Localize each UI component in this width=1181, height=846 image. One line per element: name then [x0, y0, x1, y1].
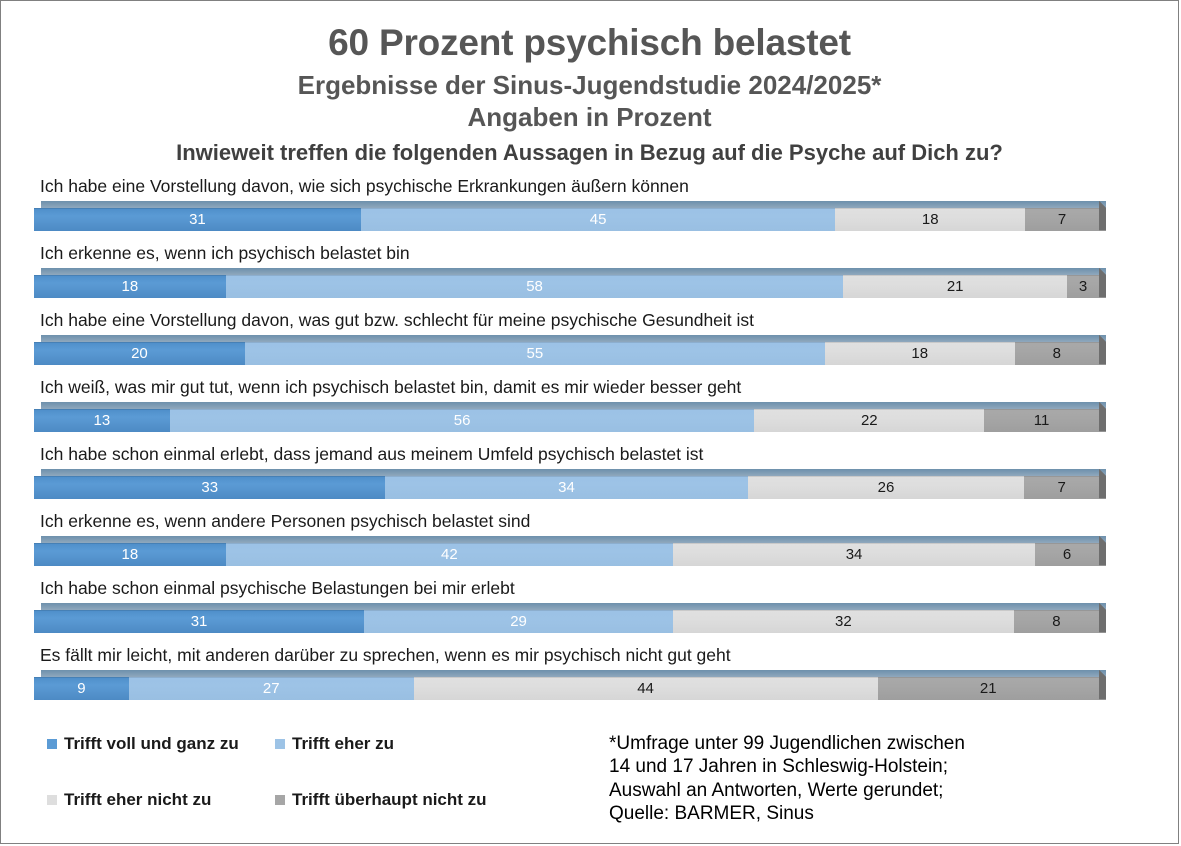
- bar-segment-value: 34: [558, 479, 575, 496]
- bar-segment: 7: [1025, 208, 1099, 231]
- chart-bar: 3129328: [34, 603, 1106, 633]
- bar-top-face: [41, 335, 1106, 342]
- bar-segment-value: 27: [263, 680, 280, 697]
- bar-segment: 8: [1014, 610, 1099, 633]
- bar-segment-value: 58: [526, 278, 543, 295]
- bar-segment-value: 32: [835, 613, 852, 630]
- chart-row: Ich weiß, was mir gut tut, wenn ich psyc…: [34, 379, 1178, 446]
- chart-legend: Trifft voll und ganz zuTrifft eher zuTri…: [34, 728, 594, 825]
- chart-bar: 3334267: [34, 469, 1106, 499]
- bar-segment-value: 44: [637, 680, 654, 697]
- stacked-bar-chart: Ich habe eine Vorstellung davon, wie sic…: [1, 178, 1178, 714]
- bar-segments: 2055188: [34, 342, 1099, 365]
- bar-segment: 9: [34, 677, 129, 700]
- bar-segment: 20: [34, 342, 245, 365]
- chart-bar: 3145187: [34, 201, 1106, 231]
- bar-segment-value: 29: [510, 613, 527, 630]
- bar-segment-value: 42: [441, 546, 458, 563]
- bar-segment: 26: [748, 476, 1025, 499]
- bar-top-face: [41, 268, 1106, 275]
- bar-segment: 6: [1035, 543, 1099, 566]
- bar-segment: 42: [226, 543, 673, 566]
- bar-top-face: [41, 469, 1106, 476]
- bar-segment-value: 11: [1034, 412, 1050, 429]
- bar-segment-value: 56: [454, 412, 471, 429]
- legend-label: Trifft eher zu: [292, 734, 394, 754]
- legend-label: Trifft eher nicht zu: [64, 790, 211, 810]
- legend-item[interactable]: Trifft eher zu: [269, 734, 394, 754]
- bar-segment-value: 34: [846, 546, 863, 563]
- bar-segment: 58: [226, 275, 844, 298]
- bar-segment: 44: [414, 677, 878, 700]
- bar-segments: 9274421: [34, 677, 1099, 700]
- bar-segment: 45: [361, 208, 836, 231]
- bar-segment-value: 31: [191, 613, 208, 630]
- bar-segment-value: 7: [1058, 211, 1066, 228]
- subtitle-study: Ergebnisse der Sinus-Jugendstudie 2024/2…: [1, 69, 1178, 102]
- bar-segment-value: 21: [947, 278, 964, 295]
- legend-item[interactable]: Trifft eher nicht zu: [34, 790, 269, 810]
- legend-row: Trifft voll und ganz zuTrifft eher zu: [34, 734, 594, 754]
- source-note: *Umfrage unter 99 Jugendlichen zwischen …: [594, 728, 965, 825]
- chart-row-label: Ich erkenne es, wenn andere Personen psy…: [34, 513, 1178, 536]
- bar-segment-value: 9: [77, 680, 85, 697]
- legend-label: Trifft überhaupt nicht zu: [292, 790, 487, 810]
- bar-segment: 21: [843, 275, 1067, 298]
- chart-row: Ich habe schon einmal erlebt, dass jeman…: [34, 446, 1178, 513]
- chart-bar: 1858213: [34, 268, 1106, 298]
- bar-segment-value: 18: [922, 211, 939, 228]
- chart-row-label: Ich habe schon einmal erlebt, dass jeman…: [34, 446, 1178, 469]
- bar-top-face: [41, 670, 1106, 677]
- bar-segment-value: 7: [1058, 479, 1066, 496]
- bar-segments: 3334267: [34, 476, 1099, 499]
- bar-segment-value: 45: [590, 211, 607, 228]
- page-title: 60 Prozent psychisch belastet: [1, 23, 1178, 64]
- bar-segment-value: 18: [122, 546, 139, 563]
- bar-segment: 18: [825, 342, 1015, 365]
- bar-segment-value: 8: [1053, 345, 1061, 362]
- bar-segment: 18: [835, 208, 1025, 231]
- bar-segment-value: 21: [980, 680, 997, 697]
- chart-row-label: Ich habe eine Vorstellung davon, was gut…: [34, 312, 1178, 335]
- bar-segment: 31: [34, 610, 364, 633]
- bar-segment: 7: [1024, 476, 1099, 499]
- chart-row: Ich erkenne es, wenn andere Personen psy…: [34, 513, 1178, 580]
- chart-row: Ich habe eine Vorstellung davon, was gut…: [34, 312, 1178, 379]
- bar-segment: 55: [245, 342, 825, 365]
- bar-segment: 11: [984, 409, 1099, 432]
- bar-segment-value: 18: [122, 278, 139, 295]
- chart-row: Ich habe eine Vorstellung davon, wie sic…: [34, 178, 1178, 245]
- bar-segment: 32: [673, 610, 1014, 633]
- bar-segment: 21: [878, 677, 1099, 700]
- bar-segment-value: 55: [527, 345, 544, 362]
- bar-segment: 33: [34, 476, 385, 499]
- legend-swatch-icon: [47, 795, 57, 805]
- bar-segment: 3: [1067, 275, 1099, 298]
- bar-segments: 1858213: [34, 275, 1099, 298]
- chart-bar: 1842346: [34, 536, 1106, 566]
- bar-segment-value: 3: [1079, 278, 1087, 295]
- bar-segment-value: 8: [1052, 613, 1060, 630]
- bar-segment-value: 20: [131, 345, 148, 362]
- bar-segments: 1842346: [34, 543, 1099, 566]
- bar-top-face: [41, 201, 1106, 208]
- survey-question: Inwieweit treffen die folgenden Aussagen…: [1, 139, 1178, 167]
- chart-row-label: Ich erkenne es, wenn ich psychisch belas…: [34, 245, 1178, 268]
- bar-segment: 34: [673, 543, 1035, 566]
- bar-segment-value: 13: [94, 412, 111, 429]
- bar-segment: 18: [34, 543, 226, 566]
- legend-item[interactable]: Trifft überhaupt nicht zu: [269, 790, 487, 810]
- bar-segment-value: 18: [911, 345, 928, 362]
- bar-segment: 27: [129, 677, 414, 700]
- bar-segment: 13: [34, 409, 170, 432]
- chart-row-label: Es fällt mir leicht, mit anderen darüber…: [34, 647, 1178, 670]
- bar-segment: 29: [364, 610, 673, 633]
- bar-segment-value: 22: [861, 412, 878, 429]
- bar-segment: 18: [34, 275, 226, 298]
- subtitle-units: Angaben in Prozent: [1, 101, 1178, 134]
- legend-swatch-icon: [275, 739, 285, 749]
- chart-bar: 2055188: [34, 335, 1106, 365]
- chart-row-label: Ich weiß, was mir gut tut, wenn ich psyc…: [34, 379, 1178, 402]
- bar-top-face: [41, 402, 1106, 409]
- legend-row: Trifft eher nicht zuTrifft überhaupt nic…: [34, 790, 594, 810]
- chart-bar: 9274421: [34, 670, 1106, 700]
- legend-item[interactable]: Trifft voll und ganz zu: [34, 734, 269, 754]
- chart-row: Es fällt mir leicht, mit anderen darüber…: [34, 647, 1178, 714]
- chart-footer: Trifft voll und ganz zuTrifft eher zuTri…: [1, 728, 1178, 825]
- infographic-frame: 60 Prozent psychisch belastet Ergebnisse…: [0, 0, 1179, 844]
- bar-segment: 8: [1015, 342, 1099, 365]
- bar-segment-value: 33: [201, 479, 218, 496]
- chart-row: Ich habe schon einmal psychische Belastu…: [34, 580, 1178, 647]
- bar-segment-value: 6: [1063, 546, 1071, 563]
- bar-segment: 34: [385, 476, 747, 499]
- bar-segment-value: 26: [878, 479, 895, 496]
- legend-swatch-icon: [275, 795, 285, 805]
- bar-top-face: [41, 603, 1106, 610]
- chart-row: Ich erkenne es, wenn ich psychisch belas…: [34, 245, 1178, 312]
- bar-segments: 13562211: [34, 409, 1099, 432]
- title-block: 60 Prozent psychisch belastet Ergebnisse…: [1, 1, 1178, 166]
- bar-segment: 31: [34, 208, 361, 231]
- bar-top-face: [41, 536, 1106, 543]
- bar-segments: 3129328: [34, 610, 1099, 633]
- chart-row-label: Ich habe schon einmal psychische Belastu…: [34, 580, 1178, 603]
- bar-segment: 22: [754, 409, 984, 432]
- legend-swatch-icon: [47, 739, 57, 749]
- legend-label: Trifft voll und ganz zu: [64, 734, 239, 754]
- bar-segment-value: 31: [189, 211, 206, 228]
- chart-row-label: Ich habe eine Vorstellung davon, wie sic…: [34, 178, 1178, 201]
- bar-segment: 56: [170, 409, 755, 432]
- chart-bar: 13562211: [34, 402, 1106, 432]
- bar-segments: 3145187: [34, 208, 1099, 231]
